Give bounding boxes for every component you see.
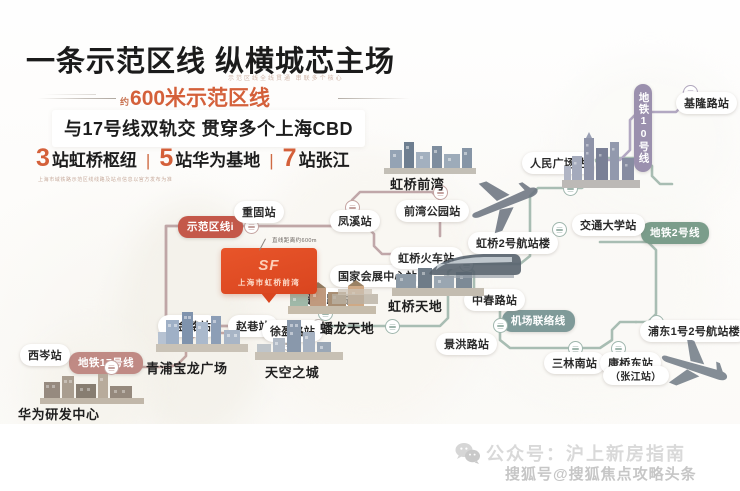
station-label-jinghonglu[interactable]: 景洪路站 bbox=[436, 333, 497, 355]
project-name: 上海市虹桥前湾 bbox=[221, 277, 317, 288]
illustration-lujiazui-skyline bbox=[562, 132, 640, 188]
project-logo: SF bbox=[221, 257, 317, 274]
illustration-huawei-campus bbox=[40, 368, 144, 404]
poi-label-panlong-tiandi: 蟠龙天地 bbox=[320, 318, 374, 337]
transit-map: 示范区线i 地铁17号线 地铁2号线 地铁10号线 机场联络线 西岑站 汇金路站… bbox=[0, 0, 740, 491]
line-badge-demo[interactable]: 示范区线i bbox=[178, 216, 243, 238]
subtitle-primary-text: 600米示范区线 bbox=[130, 87, 270, 110]
subtitle-primary: 约600米示范区线 bbox=[120, 82, 450, 112]
illustration-qingpu-baolong bbox=[156, 310, 248, 352]
subtitle-prefix: 约 bbox=[120, 97, 129, 107]
poi-label-tiankongzhicheng: 天空之城 bbox=[265, 362, 319, 381]
illustration-high-speed-train bbox=[426, 250, 522, 282]
poi-label-huawei: 华为研发中心 bbox=[18, 404, 100, 423]
illustration-airplane-hongqiao bbox=[468, 172, 546, 234]
illustration-hongqiao-qianwan bbox=[384, 140, 476, 174]
station-label-fengxi[interactable]: 凤溪站 bbox=[330, 210, 380, 232]
project-marker[interactable]: SF 上海市虹桥前湾 bbox=[221, 248, 317, 294]
poi-label-hongqiao-qianwan: 虹桥前湾 bbox=[390, 174, 444, 193]
station-label-chonggu[interactable]: 重固站 bbox=[234, 201, 284, 223]
illustration-neccis bbox=[332, 286, 378, 306]
poi-label-hongqiao-tiandi: 虹桥天地 bbox=[388, 296, 442, 315]
line-badge-metro2[interactable]: 地铁2号线 bbox=[641, 222, 709, 244]
watermark-sohu-label: 搜狐号@搜狐焦点攻略头条 bbox=[505, 463, 697, 484]
marker-distance-note: 直线距离约600m bbox=[272, 236, 317, 244]
station-dot-jinghonglu[interactable] bbox=[493, 318, 508, 333]
station-label-jiaotongdaxue[interactable]: 交通大学站 bbox=[572, 214, 645, 236]
station-label-qianwangongyuan[interactable]: 前湾公园站 bbox=[396, 200, 469, 222]
station-label-jilonglu[interactable]: 基隆路站 bbox=[676, 92, 737, 114]
wechat-icon bbox=[455, 442, 481, 469]
route-lines bbox=[0, 0, 740, 491]
poi-label-qingpu-baolong: 青浦宝龙广场 bbox=[146, 358, 228, 377]
infographic-root: 一条示范区线 纵横城芯主场 示范区线全线贯通 串联多个核心 约600米示范区线 … bbox=[0, 0, 740, 491]
line-badge-airport[interactable]: 机场联络线 bbox=[502, 310, 575, 332]
station-label-zhangjiang-alt[interactable]: （张江站） bbox=[603, 366, 669, 385]
station-dot-guojiahuizhan[interactable] bbox=[385, 319, 400, 334]
station-label-xicen[interactable]: 西岑站 bbox=[20, 344, 70, 366]
illustration-airplane-pudong bbox=[660, 340, 734, 398]
station-label-pudong-t1t2[interactable]: 浦东1号2号航站楼 bbox=[640, 320, 740, 342]
station-label-sanlinnan[interactable]: 三林南站 bbox=[544, 352, 605, 374]
